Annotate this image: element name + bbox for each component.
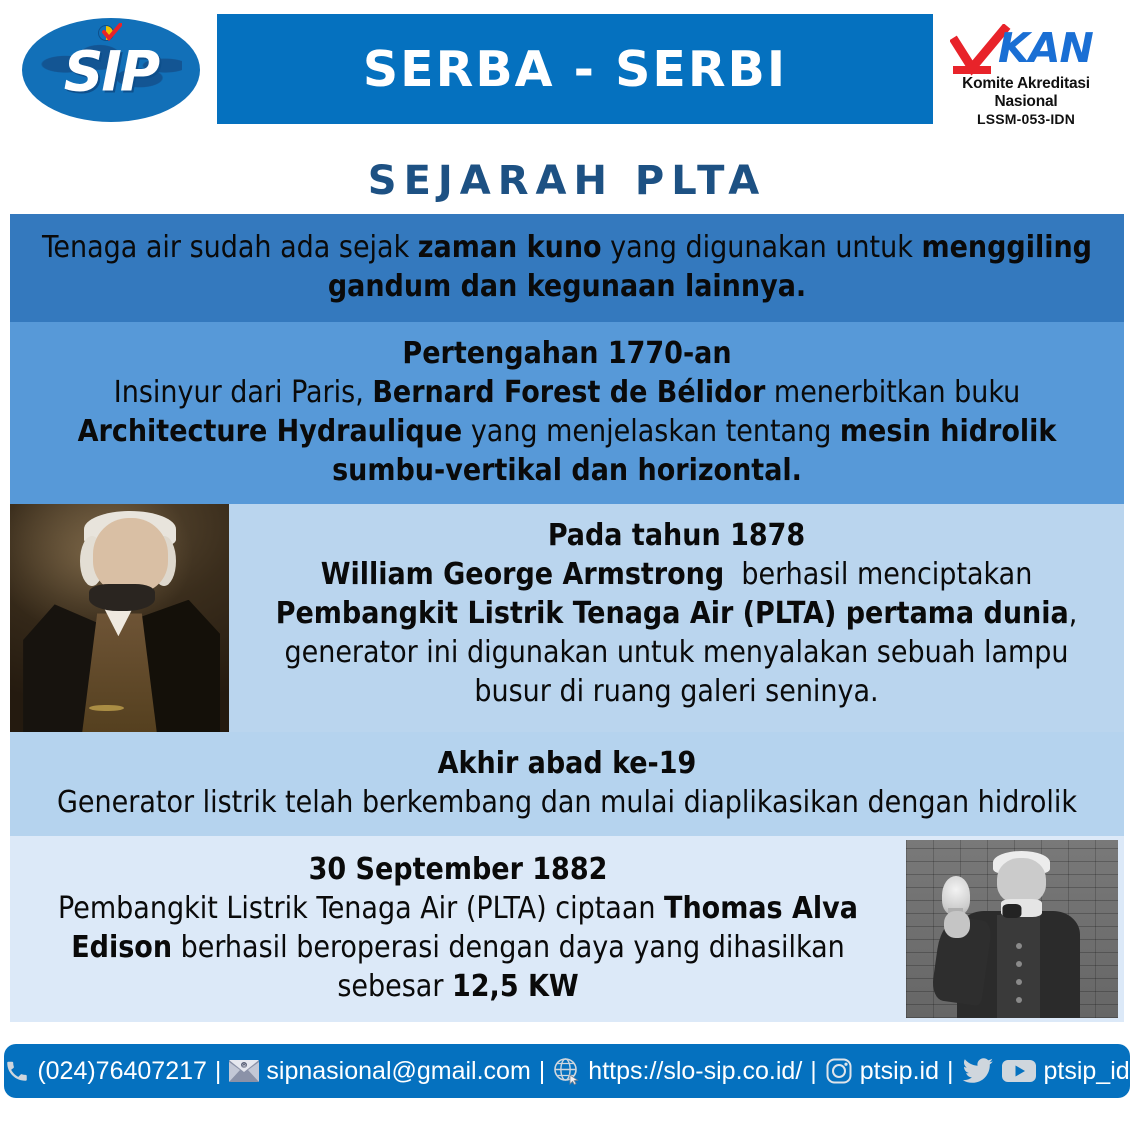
footer-separator-1: | xyxy=(214,1057,223,1086)
block-zaman-kuno: Tenaga air sudah ada sejak zaman kuno ya… xyxy=(10,214,1124,322)
page-header: SIP SERBA - SERBI KAN Komite Akreditasi … xyxy=(0,0,1134,140)
footer-separator-3: | xyxy=(809,1057,818,1086)
phone-icon xyxy=(4,1058,30,1084)
portrait-william-george-armstrong xyxy=(10,504,229,732)
footer-website-text[interactable]: https://slo-sip.co.id/ xyxy=(588,1057,802,1086)
block-1878-heading: Pada tahun 1878 xyxy=(259,516,1094,555)
content-area: Tenaga air sudah ada sejak zaman kuno ya… xyxy=(10,214,1124,1022)
sip-logo-ellipse: SIP xyxy=(22,18,200,122)
footer-separator-4: | xyxy=(946,1057,955,1086)
photo-thomas-alva-edison xyxy=(906,840,1118,1018)
footer-phone-text[interactable]: (024)76407217 xyxy=(37,1057,207,1086)
instagram-icon xyxy=(825,1057,853,1085)
svg-text:@: @ xyxy=(242,1064,247,1070)
sip-badge-checkmark-icon xyxy=(102,23,122,41)
block-1882-edison: 30 September 1882 Pembangkit Listrik Ten… xyxy=(10,836,1124,1022)
page-title: SEJARAH PLTA xyxy=(0,140,1134,214)
block-akhir-abad-19: Akhir abad ke-19 Generator listrik telah… xyxy=(10,732,1124,836)
block-akhir-abad-19-heading: Akhir abad ke-19 xyxy=(18,744,1116,783)
twitter-icon[interactable] xyxy=(962,1057,994,1085)
sip-logo-check-badge xyxy=(98,23,124,43)
block-1882-text: Pembangkit Listrik Tenaga Air (PLTA) cip… xyxy=(20,889,896,1006)
sip-logo-wordmark: SIP xyxy=(22,39,200,103)
block-1770an-text: Insinyur dari Paris, Bernard Forest de B… xyxy=(30,373,1104,490)
footer-email-text[interactable]: sipnasional@gmail.com xyxy=(266,1057,530,1086)
block-1878-text: William George Armstrong berhasil mencip… xyxy=(259,555,1094,711)
kan-logo-mark: KAN xyxy=(936,22,1116,78)
footer-separator-2: | xyxy=(538,1057,547,1086)
block-1770an: Pertengahan 1770-an Insinyur dari Paris,… xyxy=(10,322,1124,504)
footer-social-handle-text[interactable]: ptsip_id xyxy=(1044,1057,1130,1086)
block-1878-armstrong: Pada tahun 1878 William George Armstrong… xyxy=(10,504,1124,732)
contact-footer-bar: (024)76407217 | @ sipnasional@gmail.com … xyxy=(4,1044,1130,1098)
envelope-icon: @ xyxy=(229,1060,259,1082)
block-zaman-kuno-text: Tenaga air sudah ada sejak zaman kuno ya… xyxy=(10,214,1124,322)
youtube-icon[interactable] xyxy=(1001,1058,1037,1084)
globe-icon xyxy=(553,1057,581,1085)
banner-title-text: SERBA - SERBI xyxy=(363,41,787,98)
block-1770an-heading: Pertengahan 1770-an xyxy=(30,334,1104,373)
footer-instagram-text[interactable]: ptsip.id xyxy=(860,1057,939,1086)
kan-logo: KAN Komite Akreditasi Nasional LSSM-053-… xyxy=(936,22,1116,118)
kan-logo-line2: LSSM-053-IDN xyxy=(936,111,1116,127)
kan-logo-wordmark: KAN xyxy=(998,24,1093,72)
banner-title-bar: SERBA - SERBI xyxy=(217,14,933,124)
sip-logo: SIP xyxy=(22,18,200,122)
kan-logo-line1: Komite Akreditasi Nasional xyxy=(936,75,1116,111)
block-akhir-abad-19-text: Generator listrik telah berkembang dan m… xyxy=(18,783,1116,822)
block-1882-heading: 30 September 1882 xyxy=(20,850,896,889)
